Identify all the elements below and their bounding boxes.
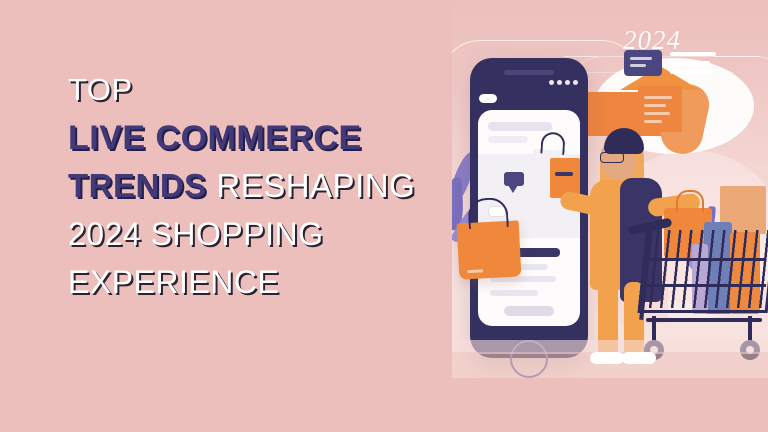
- cart-horizontal-bar: [642, 258, 766, 261]
- note-card-icon: [624, 50, 662, 76]
- woman-shoe-left: [590, 352, 624, 364]
- headline-line-3: TRENDS RESHAPING: [68, 162, 468, 210]
- cart-horizontal-bar: [642, 284, 766, 287]
- text-lines-decoration: [670, 52, 716, 79]
- headline-experience-text: EXPERIENCE: [68, 264, 279, 300]
- headline-reshaping-text: RESHAPING: [216, 167, 415, 204]
- screen-button: [504, 306, 554, 316]
- package-line-4: [644, 120, 662, 123]
- package-line-2: [644, 104, 666, 107]
- woman-shoe-right: [622, 352, 656, 364]
- headline-line-5: EXPERIENCE: [68, 258, 468, 306]
- headline-live-commerce-text: LIVE COMMERCE: [68, 119, 362, 157]
- cart-base: [646, 318, 762, 322]
- phone-status-dots: [549, 80, 578, 85]
- video-camera-icon: [504, 172, 524, 186]
- hero-illustration: 2024: [452, 0, 768, 378]
- headline-top-text: TOP: [68, 72, 133, 107]
- cart-leg: [652, 316, 656, 342]
- glasses-icon: [600, 152, 624, 163]
- package-line-1: [644, 96, 672, 99]
- screen-subheader-bar: [488, 136, 528, 143]
- headline-line-1: TOP: [68, 66, 468, 114]
- live-commerce-banner: TOP LIVE COMMERCE TRENDS RESHAPING 2024 …: [0, 0, 768, 432]
- decorative-line-left: [564, 56, 598, 57]
- headline-2024-shopping-text: 2024 SHOPPING: [68, 216, 324, 252]
- screen-field-line: [490, 290, 538, 296]
- bag-tag: [467, 269, 483, 273]
- package-line-3: [644, 112, 670, 115]
- screen-header-bar: [488, 122, 552, 131]
- headline-trends-text: TRENDS: [68, 167, 207, 204]
- headline-block: TOP LIVE COMMERCE TRENDS RESHAPING 2024 …: [68, 66, 468, 306]
- package-box-icon: [638, 86, 682, 132]
- cart-leg: [748, 316, 752, 342]
- bag-label: [555, 172, 573, 176]
- headline-line-4: 2024 SHOPPING: [68, 210, 468, 258]
- phone-speaker: [504, 70, 554, 75]
- headline-line-2: LIVE COMMERCE: [68, 114, 468, 162]
- shopping-cart-basket: [638, 228, 768, 313]
- phone-badge: [479, 94, 497, 103]
- decorative-line-right: [714, 56, 760, 57]
